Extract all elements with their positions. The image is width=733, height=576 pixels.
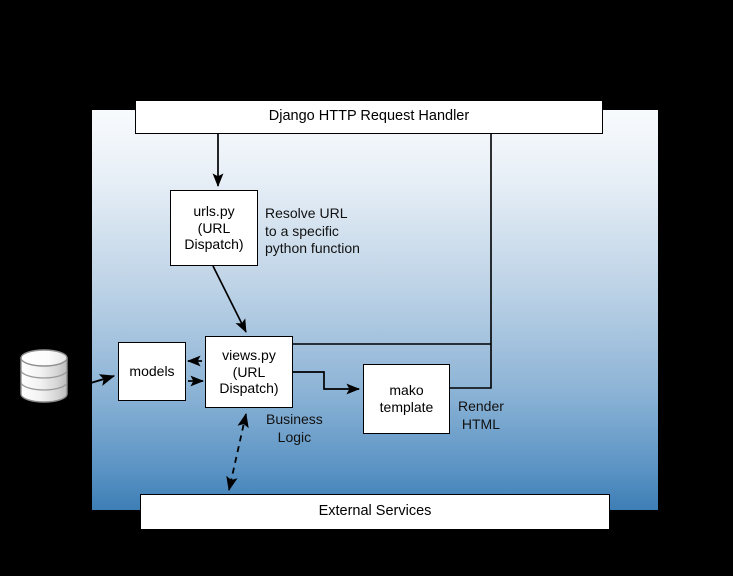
- annotation-resolve-url: Resolve URL to a specific python functio…: [265, 205, 360, 258]
- database-cylinder-icon: [18, 347, 70, 405]
- node-mako-label: mako template: [380, 382, 434, 415]
- node-external-label: External Services: [319, 503, 432, 520]
- node-views-py[interactable]: views.py (URL Dispatch): [205, 336, 293, 408]
- node-external-services[interactable]: External Services: [140, 494, 610, 530]
- node-urls-py[interactable]: urls.py (URL Dispatch): [170, 190, 258, 266]
- annotation-business-logic: Business Logic: [266, 411, 323, 446]
- node-views-label: views.py (URL Dispatch): [219, 347, 278, 397]
- diagram-canvas: Django HTTP Request Handler urls.py (URL…: [0, 0, 733, 576]
- gradient-backdrop-panel: [92, 110, 658, 510]
- annotation-render-html: Render HTML: [458, 398, 504, 433]
- node-models[interactable]: models: [118, 342, 186, 401]
- node-models-label: models: [129, 363, 174, 380]
- node-handler-label: Django HTTP Request Handler: [269, 108, 469, 125]
- node-urls-label: urls.py (URL Dispatch): [184, 203, 243, 253]
- node-mako-template[interactable]: mako template: [363, 364, 450, 434]
- node-django-http-request-handler[interactable]: Django HTTP Request Handler: [135, 100, 603, 134]
